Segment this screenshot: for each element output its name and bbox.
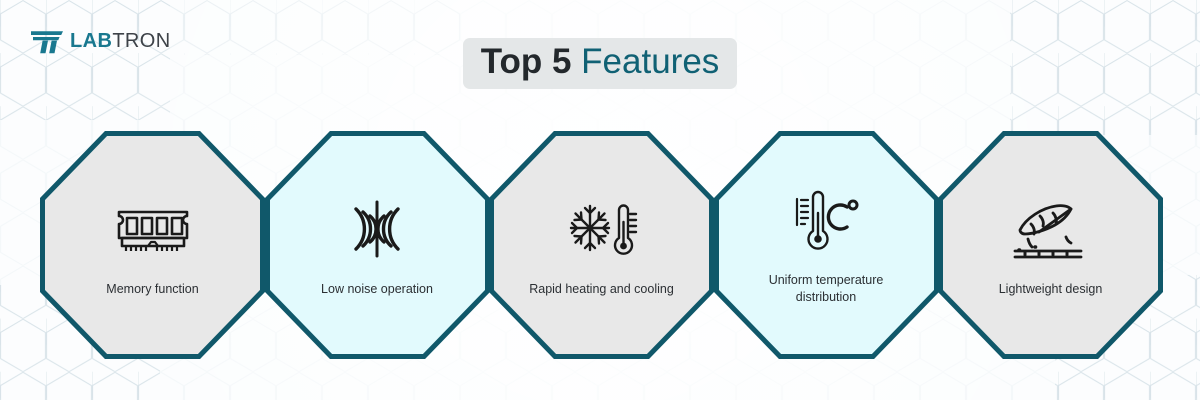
feature-card-uniform-temperature-distribution[interactable]: Uniform temperature distribution <box>714 131 939 359</box>
feature-icon-wrap <box>114 197 192 261</box>
feature-icon-wrap <box>793 188 859 252</box>
features-row: Memory function <box>40 131 1164 359</box>
sound-waves-icon <box>344 198 410 260</box>
page-title-container: Top 5 Features <box>0 38 1200 89</box>
feature-label: Low noise operation <box>297 281 457 298</box>
feature-content: Rapid heating and cooling <box>489 131 714 359</box>
feature-icon-wrap <box>344 197 410 261</box>
feature-icon-wrap <box>1009 197 1093 261</box>
feature-content: Memory function <box>40 131 265 359</box>
feature-content: Uniform temperature distribution <box>714 131 939 359</box>
feature-label: Uniform temperature distribution <box>746 272 906 306</box>
feature-card-lightweight-design[interactable]: Lightweight design <box>938 131 1163 359</box>
page-title: Top 5 Features <box>463 38 738 89</box>
feature-card-rapid-heating-and-cooling[interactable]: Rapid heating and cooling <box>489 131 714 359</box>
feature-content: Low noise operation <box>265 131 490 359</box>
thermometer-celsius-icon <box>793 189 859 251</box>
infographic-canvas: LABTRON Top 5 Features <box>0 0 1200 400</box>
feature-content: Lightweight design <box>938 131 1163 359</box>
snowflake-thermometer-icon <box>566 200 638 258</box>
feature-card-memory-function[interactable]: Memory function <box>40 131 265 359</box>
feature-label: Rapid heating and cooling <box>522 281 682 298</box>
page-title-strong: Top 5 <box>481 42 572 81</box>
feather-icon <box>1009 199 1093 259</box>
feature-icon-wrap <box>566 197 638 261</box>
feature-label: Lightweight design <box>971 281 1131 298</box>
feature-label: Memory function <box>73 281 233 298</box>
memory-ram-stick-icon <box>114 204 192 254</box>
page-title-accent: Features <box>581 42 719 81</box>
feature-card-low-noise-operation[interactable]: Low noise operation <box>265 131 490 359</box>
